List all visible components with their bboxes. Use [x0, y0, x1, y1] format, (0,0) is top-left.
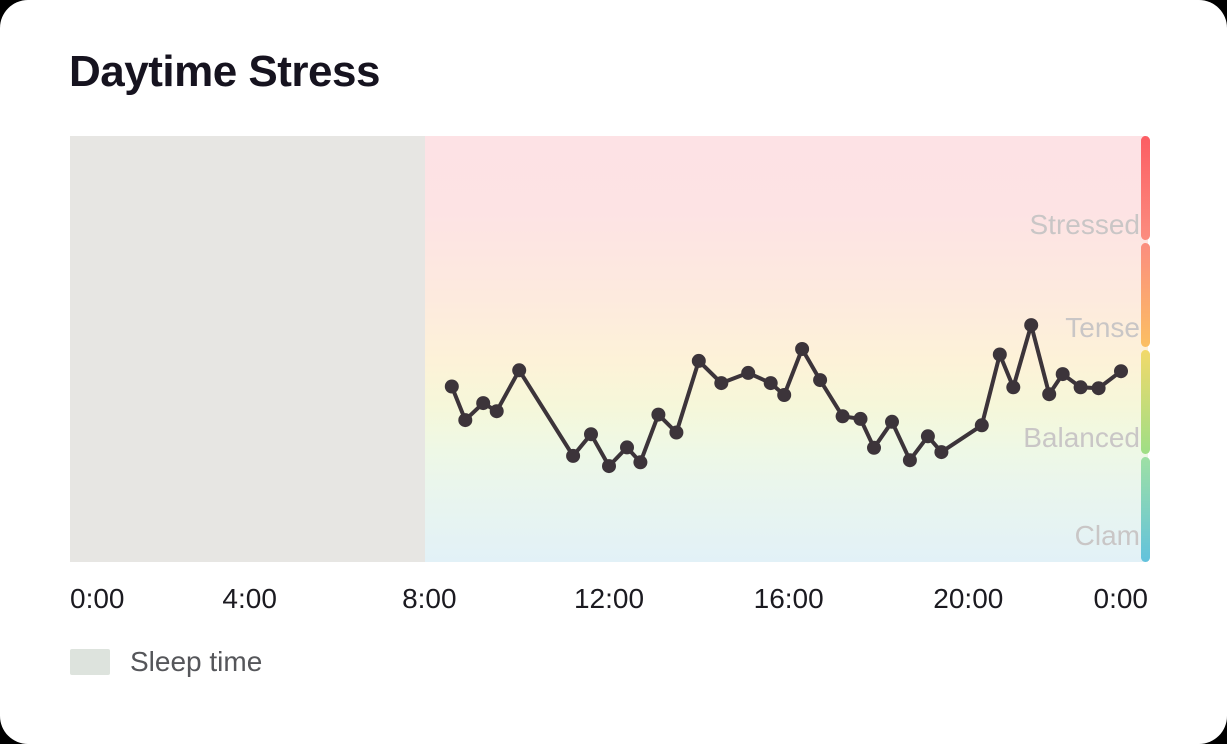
- data-point[interactable]: [993, 348, 1007, 362]
- data-point[interactable]: [476, 396, 490, 410]
- data-point[interactable]: [934, 445, 948, 459]
- x-axis-tick-labels: 0:004:008:0012:0016:0020:000:00: [70, 585, 1148, 625]
- screen-root: Daytime Stress Stressed Tense Balanced C…: [0, 0, 1227, 744]
- scale-segment-clam: [1141, 457, 1150, 562]
- data-point[interactable]: [1042, 387, 1056, 401]
- stress-line-series: [70, 136, 1148, 562]
- x-axis-tick-0: 0:00: [70, 585, 125, 613]
- data-point[interactable]: [975, 418, 989, 432]
- data-point[interactable]: [813, 373, 827, 387]
- data-point[interactable]: [741, 366, 755, 380]
- data-point[interactable]: [692, 354, 706, 368]
- data-point[interactable]: [651, 408, 665, 422]
- scale-segment-tense: [1141, 243, 1150, 347]
- x-axis-tick-4: 16:00: [754, 585, 824, 613]
- data-point[interactable]: [1006, 380, 1020, 394]
- data-point[interactable]: [458, 413, 472, 427]
- data-point[interactable]: [620, 440, 634, 454]
- data-point[interactable]: [921, 429, 935, 443]
- chart-plot-area: Stressed Tense Balanced Clam: [70, 136, 1148, 562]
- x-axis-tick-5: 20:00: [933, 585, 1003, 613]
- data-point[interactable]: [836, 409, 850, 423]
- data-point[interactable]: [669, 426, 683, 440]
- data-point[interactable]: [777, 388, 791, 402]
- data-point[interactable]: [490, 404, 504, 418]
- page-title: Daytime Stress: [69, 50, 380, 94]
- x-axis-tick-3: 12:00: [574, 585, 644, 613]
- data-point[interactable]: [1074, 380, 1088, 394]
- data-point[interactable]: [885, 415, 899, 429]
- data-point[interactable]: [714, 376, 728, 390]
- data-point[interactable]: [584, 427, 598, 441]
- data-point[interactable]: [512, 363, 526, 377]
- legend-swatch-sleep-time: [70, 649, 110, 675]
- data-point[interactable]: [633, 455, 647, 469]
- data-point[interactable]: [903, 453, 917, 467]
- x-axis-tick-1: 4:00: [222, 585, 277, 613]
- data-point[interactable]: [566, 449, 580, 463]
- x-axis-tick-6: 0:00: [1094, 585, 1149, 613]
- data-point[interactable]: [602, 459, 616, 473]
- data-point[interactable]: [764, 376, 778, 390]
- data-point[interactable]: [795, 342, 809, 356]
- stress-scale-colorbar: [1141, 136, 1150, 562]
- chart-legend: Sleep time: [70, 648, 262, 676]
- data-point[interactable]: [867, 441, 881, 455]
- data-point[interactable]: [854, 412, 868, 426]
- data-point[interactable]: [1056, 367, 1070, 381]
- scale-segment-stressed: [1141, 136, 1150, 240]
- x-axis-tick-2: 8:00: [402, 585, 457, 613]
- data-point[interactable]: [445, 380, 459, 394]
- legend-label-sleep-time: Sleep time: [130, 648, 262, 676]
- data-point[interactable]: [1092, 381, 1106, 395]
- data-point[interactable]: [1024, 318, 1038, 332]
- scale-segment-balanced: [1141, 350, 1150, 454]
- daytime-stress-card: Daytime Stress Stressed Tense Balanced C…: [0, 0, 1227, 744]
- data-point[interactable]: [1114, 364, 1128, 378]
